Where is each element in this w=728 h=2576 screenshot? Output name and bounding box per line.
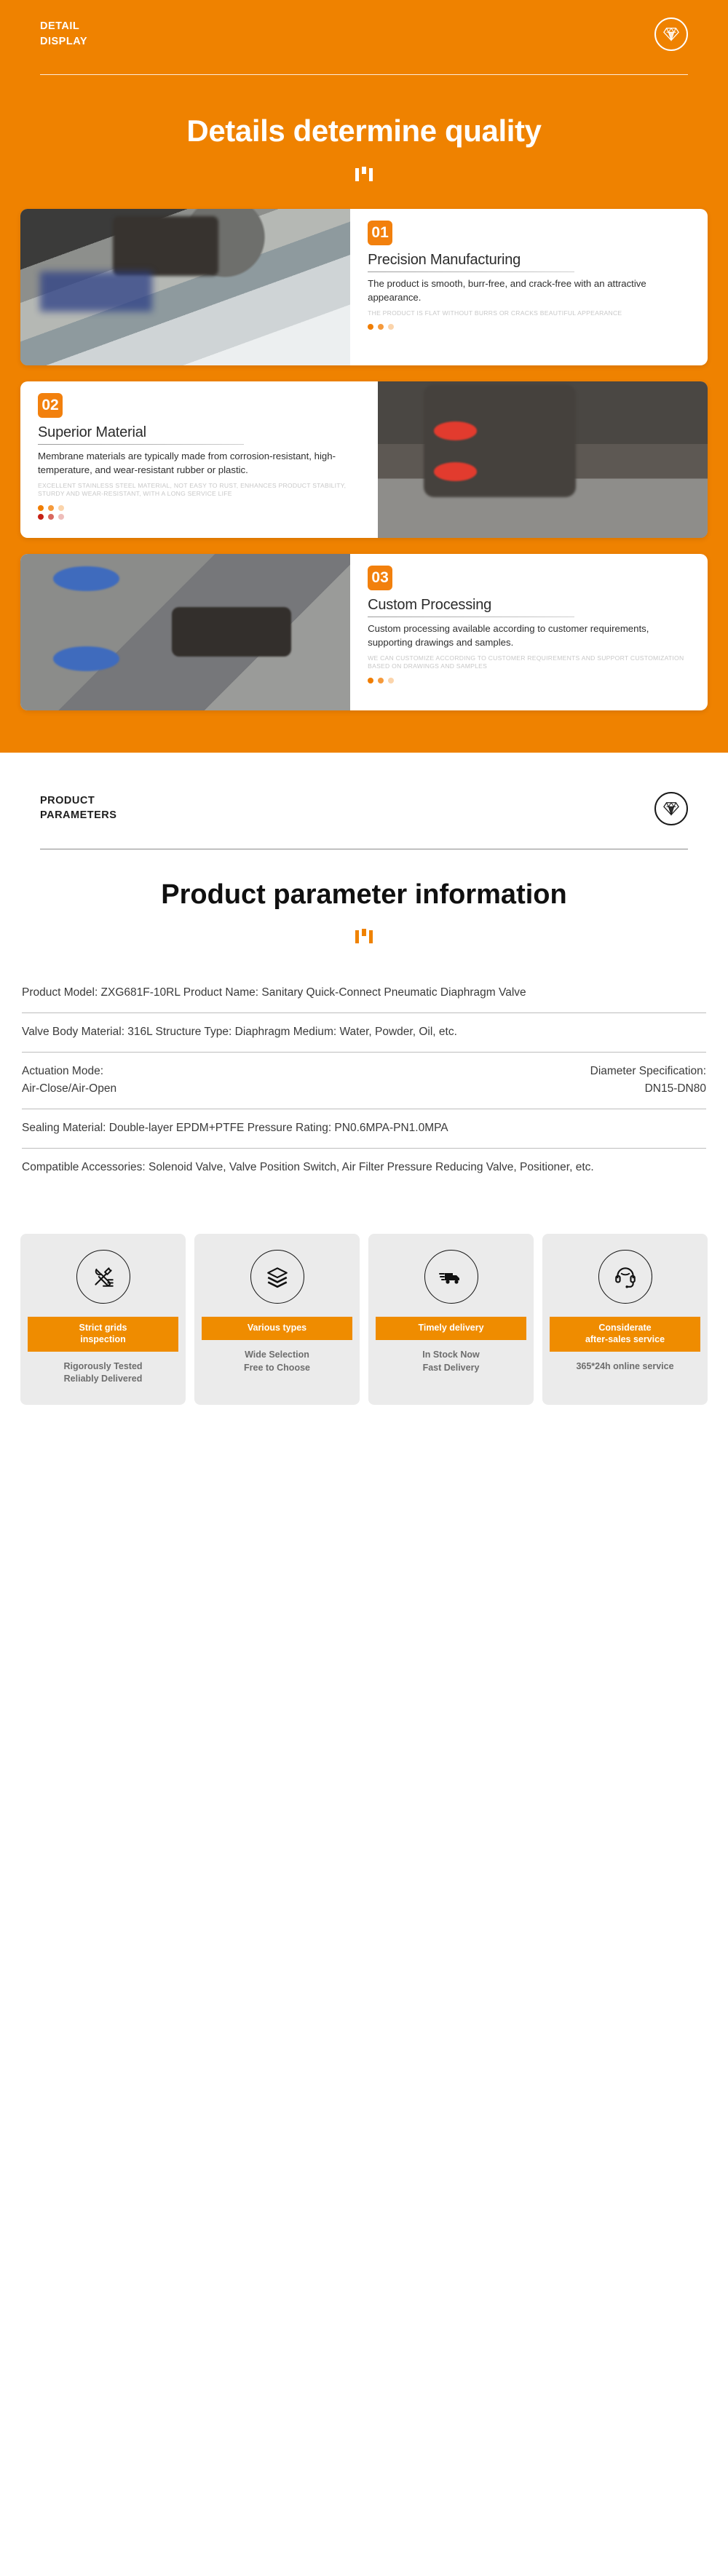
feature-card: 03 Custom Processing Custom processing a… <box>20 554 708 710</box>
feature-card-dots <box>38 505 360 511</box>
parameter-table: Product Model: ZXG681F-10RL Product Name… <box>22 974 706 1188</box>
feature-card-description: The product is smooth, burr-free, and cr… <box>368 277 690 304</box>
parameter-row: Compatible Accessories: Solenoid Valve, … <box>22 1149 706 1187</box>
service-badge-tag: Various types <box>202 1317 352 1340</box>
parameter-row: Actuation Mode: Air-Close/Air-Open Diame… <box>22 1053 706 1109</box>
feature-card: 02 Superior Material Membrane materials … <box>20 381 708 538</box>
service-badge-timely-delivery: Timely delivery In Stock Now Fast Delive… <box>368 1234 534 1405</box>
feature-card-body: 03 Custom Processing Custom processing a… <box>350 554 708 710</box>
service-badge-tag: Considerate after-sales service <box>550 1317 700 1351</box>
layers-icon <box>250 1250 304 1304</box>
feature-card-dots <box>368 678 690 683</box>
parameter-row: Sealing Material: Double-layer EPDM+PTFE… <box>22 1109 706 1149</box>
feature-card-photo <box>378 381 708 538</box>
service-badge-tag: Strict grids inspection <box>28 1317 178 1351</box>
service-badge-caption: Rigorously Tested Reliably Delivered <box>63 1360 142 1387</box>
feature-card-dots-secondary <box>38 514 360 520</box>
service-badge-after-sales-service: Considerate after-sales service 365*24h … <box>542 1234 708 1405</box>
feature-card-dots <box>368 324 690 330</box>
parameters-headline: Product parameter information <box>0 879 728 911</box>
parameters-header-divider <box>40 849 688 850</box>
detail-header-divider <box>40 74 688 75</box>
feature-card-title-rule <box>368 272 574 273</box>
service-badge-tag: Timely delivery <box>376 1317 526 1340</box>
service-badge-various-types: Various types Wide Selection Free to Cho… <box>194 1234 360 1405</box>
detail-headline: Details determine quality <box>0 113 728 149</box>
wrench-screwdriver-icon <box>76 1250 130 1304</box>
parameter-row: Product Model: ZXG681F-10RL Product Name… <box>22 974 706 1013</box>
service-badge-strict-inspection: Strict grids inspection Rigorously Teste… <box>20 1234 186 1405</box>
feature-card-title: Custom Processing <box>368 597 690 614</box>
feature-card-number: 01 <box>368 221 392 245</box>
service-badge-caption: In Stock Now Fast Delivery <box>422 1349 479 1375</box>
parameters-decoration <box>0 929 728 943</box>
feature-card-description: Membrane materials are typically made fr… <box>38 450 360 477</box>
feature-card-list: 01 Precision Manufacturing The product i… <box>0 209 728 710</box>
feature-card-title-rule <box>38 444 244 445</box>
product-detail-page: DETAIL DISPLAY Details determine quality… <box>0 0 728 1434</box>
parameter-row: Valve Body Material: 316L Structure Type… <box>22 1013 706 1053</box>
feature-card-title: Precision Manufacturing <box>368 252 690 269</box>
headline-decoration <box>0 167 728 181</box>
parameters-eyebrow-label: PRODUCT PARAMETERS <box>40 793 116 823</box>
delivery-truck-icon <box>424 1250 478 1304</box>
headset-support-icon <box>598 1250 652 1304</box>
feature-card-subtext: THE PRODUCT IS FLAT WITHOUT BURRS OR CRA… <box>368 309 690 318</box>
feature-card-description: Custom processing available according to… <box>368 622 690 649</box>
feature-card: 01 Precision Manufacturing The product i… <box>20 209 708 365</box>
diamond-icon <box>654 792 688 825</box>
feature-card-number: 02 <box>38 393 63 418</box>
feature-card-subtext: WE CAN CUSTOMIZE ACCORDING TO CUSTOMER R… <box>368 654 690 671</box>
product-parameters-section: PRODUCT PARAMETERS Product parameter inf… <box>0 753 728 1435</box>
feature-card-photo <box>20 209 350 365</box>
diamond-icon <box>654 17 688 51</box>
parameter-cell-left: Actuation Mode: Air-Close/Air-Open <box>22 1063 116 1097</box>
feature-card-photo <box>20 554 350 710</box>
feature-card-body: 02 Superior Material Membrane materials … <box>20 381 378 538</box>
detail-display-section: DETAIL DISPLAY Details determine quality… <box>0 0 728 753</box>
feature-card-title: Superior Material <box>38 424 360 441</box>
feature-card-body: 01 Precision Manufacturing The product i… <box>350 209 708 365</box>
service-badge-list: Strict grids inspection Rigorously Teste… <box>0 1187 728 1434</box>
parameter-cell-right: Diameter Specification: DN15-DN80 <box>590 1063 706 1097</box>
feature-card-title-rule <box>368 617 574 618</box>
service-badge-caption: 365*24h online service <box>576 1360 673 1374</box>
service-badge-caption: Wide Selection Free to Choose <box>244 1349 310 1375</box>
detail-eyebrow-label: DETAIL DISPLAY <box>40 19 87 49</box>
feature-card-number: 03 <box>368 566 392 590</box>
feature-card-subtext: EXCELLENT STAINLESS STEEL MATERIAL, NOT … <box>38 482 360 499</box>
parameters-section-header: PRODUCT PARAMETERS <box>0 774 728 825</box>
detail-section-header: DETAIL DISPLAY <box>0 0 728 51</box>
